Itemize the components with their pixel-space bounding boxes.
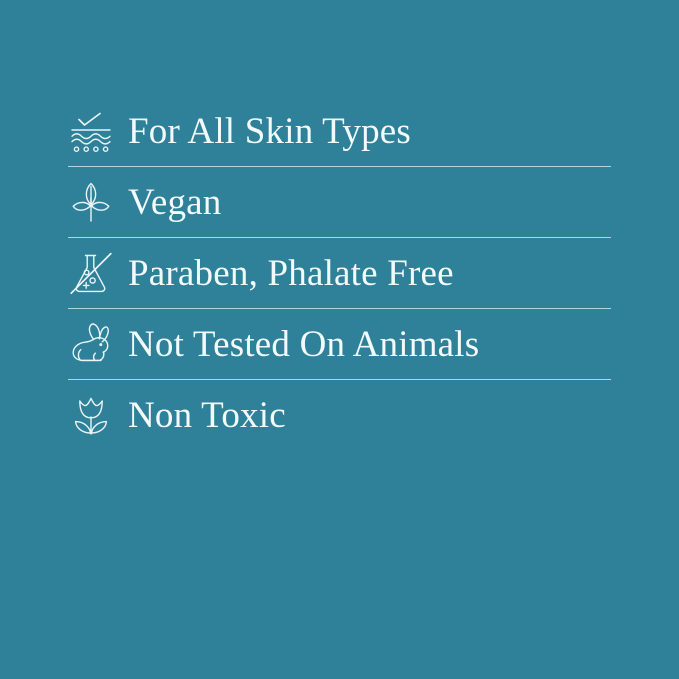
tulip-flower-icon (68, 387, 128, 443)
feature-row-cruelty-free: Not Tested On Animals (68, 309, 611, 379)
feature-label: For All Skin Types (128, 113, 411, 150)
no-chemicals-flask-icon (68, 245, 128, 301)
feature-row-skin-types: For All Skin Types (68, 96, 611, 166)
feature-label: Non Toxic (128, 397, 286, 434)
feature-label: Not Tested On Animals (128, 326, 479, 363)
product-benefits-panel: For All Skin Types Vegan (0, 0, 679, 679)
feature-divider (68, 166, 611, 167)
feature-row-paraben-free: Paraben, Phalate Free (68, 238, 611, 308)
feature-divider (68, 237, 611, 238)
sprout-leaf-icon (68, 174, 128, 230)
feature-list: For All Skin Types Vegan (68, 96, 611, 450)
skin-types-icon (68, 103, 128, 159)
feature-row-vegan: Vegan (68, 167, 611, 237)
feature-divider (68, 379, 611, 380)
feature-divider (68, 308, 611, 309)
feature-row-non-toxic: Non Toxic (68, 380, 611, 450)
rabbit-icon (68, 316, 128, 372)
feature-label: Paraben, Phalate Free (128, 255, 454, 292)
feature-label: Vegan (128, 184, 221, 221)
